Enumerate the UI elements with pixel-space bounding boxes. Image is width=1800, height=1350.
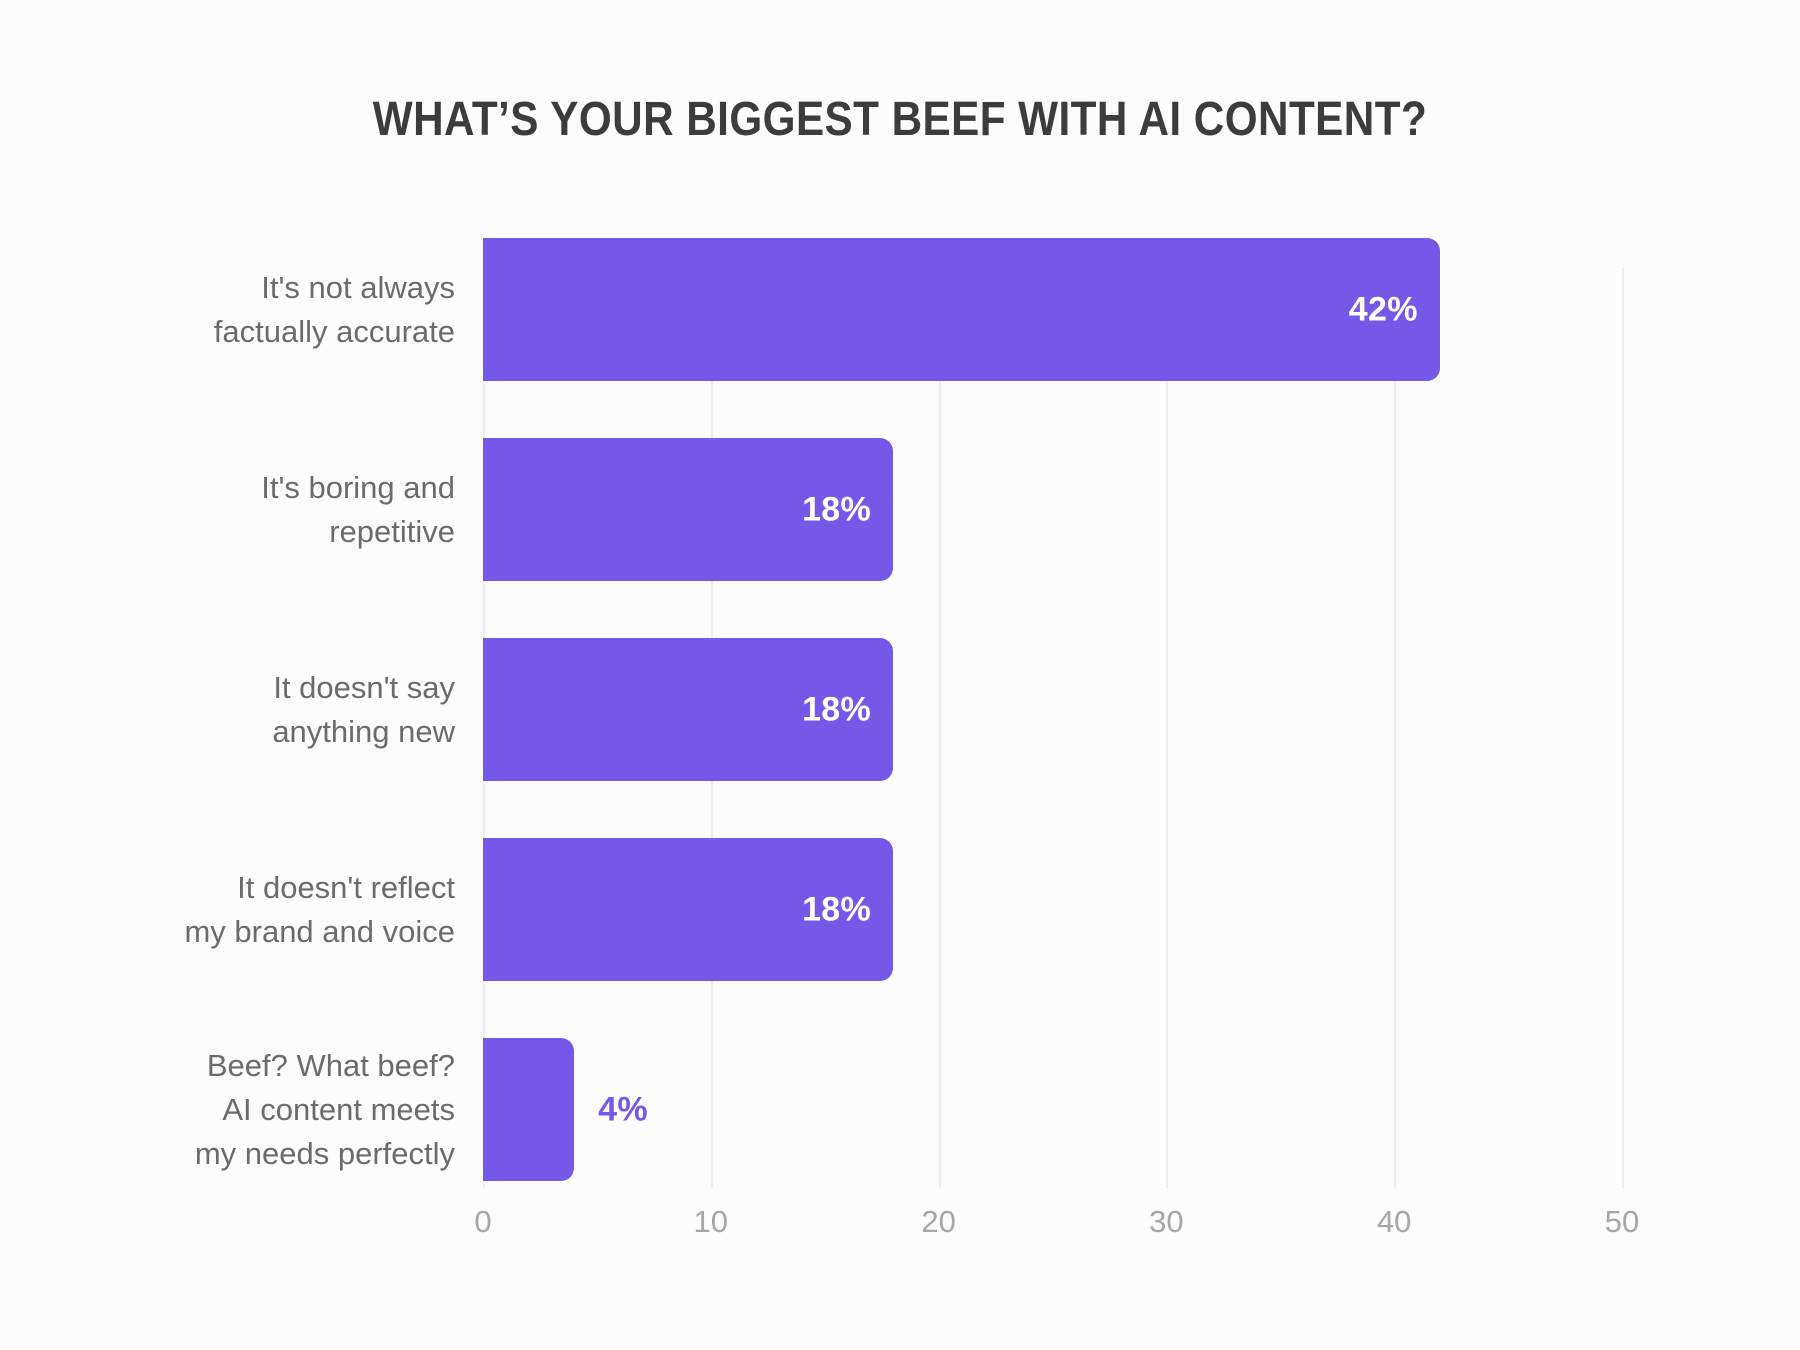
bar[interactable]: 18%	[483, 838, 893, 981]
bar[interactable]: 18%	[483, 438, 893, 581]
x-tick-50: 50	[1605, 1204, 1639, 1240]
category-label: It doesn't say anything new	[272, 666, 455, 754]
bar-row: 18%	[483, 638, 1622, 781]
bar[interactable]: 42%	[483, 238, 1440, 381]
bar-chart: WHAT’S YOUR BIGGEST BEEF WITH AI CONTENT…	[0, 0, 1800, 1350]
gridline-50	[1622, 268, 1624, 1188]
bar-row: 4%	[483, 1038, 1622, 1181]
x-tick-20: 20	[921, 1204, 955, 1240]
x-tick-10: 10	[694, 1204, 728, 1240]
bar-row: 42%	[483, 238, 1622, 381]
bar-value-label: 18%	[802, 690, 871, 729]
x-tick-40: 40	[1377, 1204, 1411, 1240]
x-tick-0: 0	[474, 1204, 491, 1240]
bar-value-label: 42%	[1349, 290, 1418, 329]
category-label: It doesn't reflect my brand and voice	[184, 866, 455, 954]
bar-value-label: 18%	[802, 490, 871, 529]
bar[interactable]	[483, 1038, 574, 1181]
bar-value-label: 4%	[598, 1090, 648, 1129]
bar-row: 18%	[483, 838, 1622, 981]
bar-row: 18%	[483, 438, 1622, 581]
plot-area: 42%18%18%18%4%	[483, 268, 1622, 1188]
x-tick-30: 30	[1149, 1204, 1183, 1240]
chart-title: WHAT’S YOUR BIGGEST BEEF WITH AI CONTENT…	[108, 92, 1692, 147]
bar-value-label: 18%	[802, 890, 871, 929]
category-label: Beef? What beef? AI content meets my nee…	[195, 1044, 455, 1176]
bar[interactable]: 18%	[483, 638, 893, 781]
category-label: It's not always factually accurate	[214, 266, 455, 354]
category-label: It's boring and repetitive	[261, 466, 455, 554]
